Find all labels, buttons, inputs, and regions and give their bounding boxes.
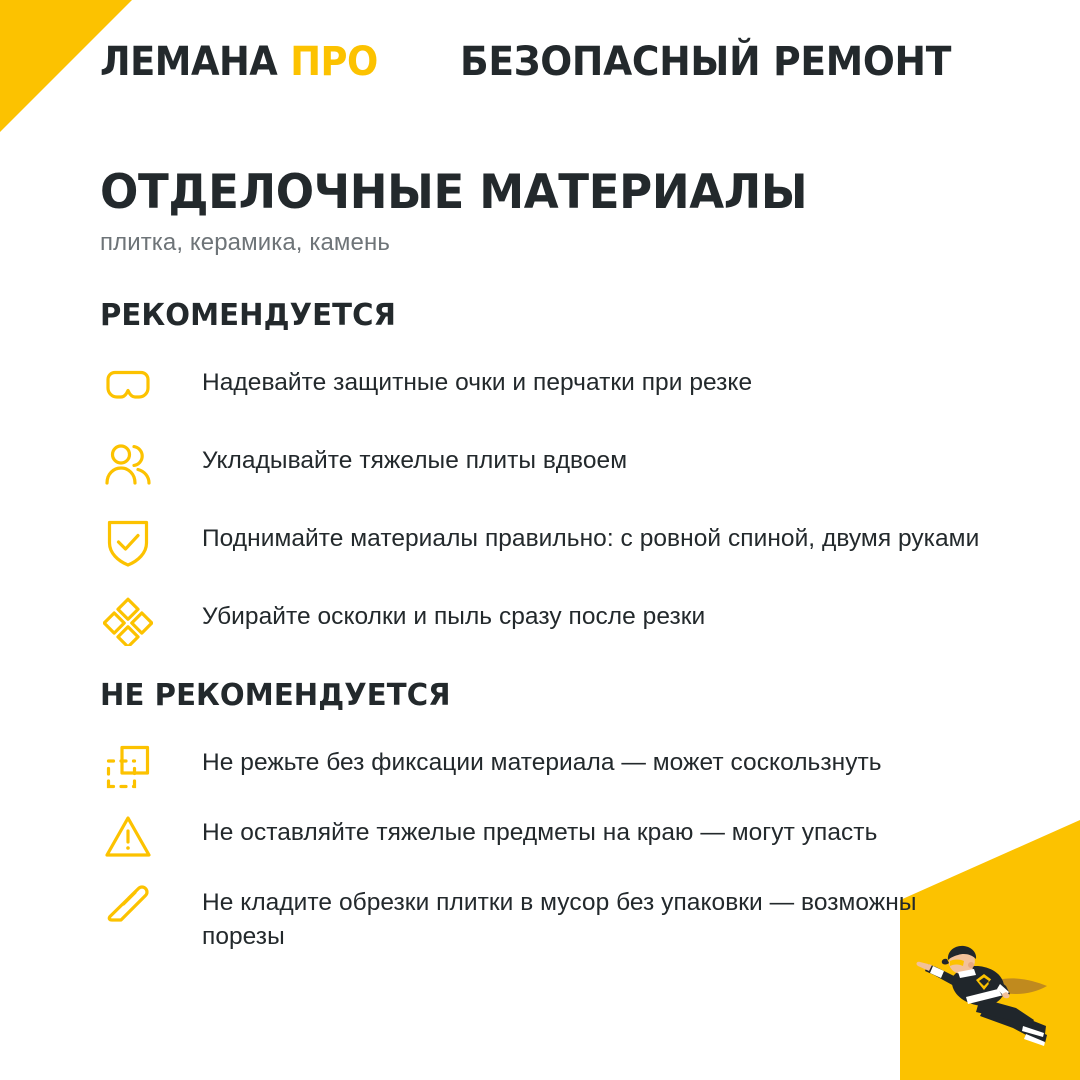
section-heading-recommended: РЕКОМЕНДУЕТСЯ <box>100 298 963 333</box>
recommended-item-list: Надевайте защитные очки и перчатки при р… <box>100 359 990 647</box>
list-item: Не кладите обрезки плитки в мусор без уп… <box>100 879 990 954</box>
shield-check-icon <box>100 517 156 569</box>
list-item-label: Не режьте без фиксации материала — может… <box>202 739 990 780</box>
knife-icon <box>100 881 156 933</box>
not-recommended-item-list: Не режьте без фиксации материала — может… <box>100 739 990 954</box>
list-item-label: Не кладите обрезки плитки в мусор без уп… <box>202 879 990 954</box>
title-block: ОТДЕЛОЧНЫЕ МАТЕРИАЛЫ плитка, керамика, к… <box>100 168 980 257</box>
list-item: Не оставляйте тяжелые предметы на краю —… <box>100 809 990 863</box>
warning-triangle-icon <box>100 811 156 863</box>
list-item: Поднимайте материалы правильно: с ровной… <box>100 515 990 569</box>
brand-logo: ЛЕМАНА ПРО <box>100 42 378 82</box>
two-people-icon <box>100 439 156 491</box>
list-item: Укладывайте тяжелые плиты вдвоем <box>100 437 990 491</box>
flying-superhero-worker-illustration <box>914 942 1064 1052</box>
poster-canvas: ЛЕМАНА ПРО БЕЗОПАСНЫЙ РЕМОНТ ОТДЕЛОЧНЫЕ … <box>0 0 1080 1080</box>
section-heading-not-recommended: НЕ РЕКОМЕНДУЕТСЯ <box>100 678 963 713</box>
section-recommended: РЕКОМЕНДУЕТСЯ Надевайте защитные очки и … <box>100 298 990 647</box>
list-item: Надевайте защитные очки и перчатки при р… <box>100 359 990 413</box>
section-not-recommended: НЕ РЕКОМЕНДУЕТСЯ Не режьте без фиксации … <box>100 678 990 970</box>
page-subtitle: плитка, керамика, камень <box>100 229 980 257</box>
header: ЛЕМАНА ПРО БЕЗОПАСНЫЙ РЕМОНТ <box>100 42 983 82</box>
list-item: Убирайте осколки и пыль сразу после резк… <box>100 593 990 647</box>
list-item: Не режьте без фиксации материала — может… <box>100 739 990 793</box>
list-item-label: Поднимайте материалы правильно: с ровной… <box>202 515 990 556</box>
list-item-label: Надевайте защитные очки и перчатки при р… <box>202 359 990 400</box>
page-title: ОТДЕЛОЧНЫЕ МАТЕРИАЛЫ <box>100 168 945 217</box>
logo-text-pro: ПРО <box>290 42 378 82</box>
list-item-label: Не оставляйте тяжелые предметы на краю —… <box>202 809 990 850</box>
list-item-label: Убирайте осколки и пыль сразу после резк… <box>202 593 990 634</box>
header-tagline: БЕЗОПАСНЫЙ РЕМОНТ <box>460 42 951 82</box>
logo-text-lemana: ЛЕМАНА <box>100 42 277 82</box>
safety-goggles-icon <box>100 361 156 413</box>
four-diamonds-icon <box>100 595 156 647</box>
unfixed-material-icon <box>100 741 156 793</box>
list-item-label: Укладывайте тяжелые плиты вдвоем <box>202 437 990 478</box>
